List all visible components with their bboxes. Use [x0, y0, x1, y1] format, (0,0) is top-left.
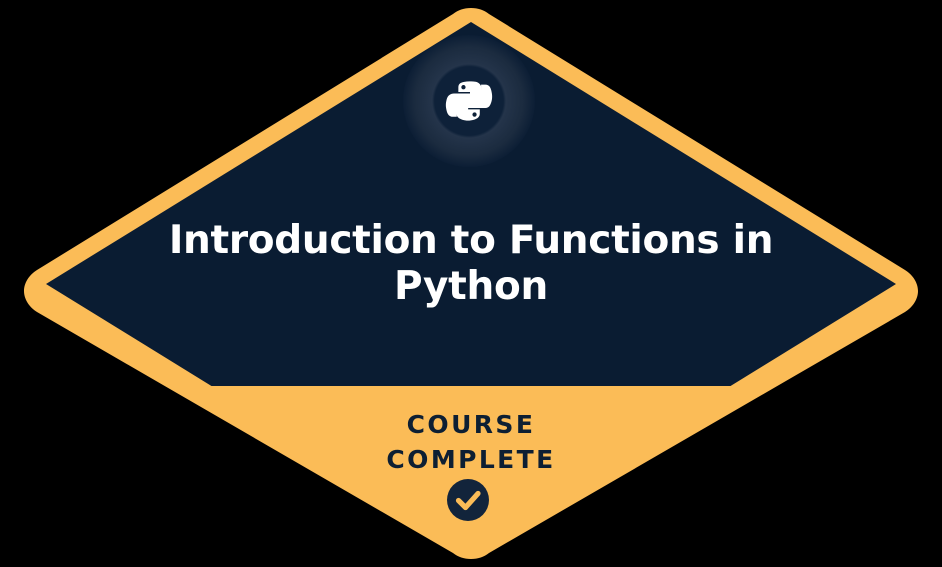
check-circle-icon [447, 479, 489, 521]
status-badge-label: COURSE COMPLETE [271, 407, 671, 477]
certificate-badge: Introduction to Functions in Python COUR… [0, 0, 942, 567]
course-title: Introduction to Functions in Python [130, 218, 812, 310]
